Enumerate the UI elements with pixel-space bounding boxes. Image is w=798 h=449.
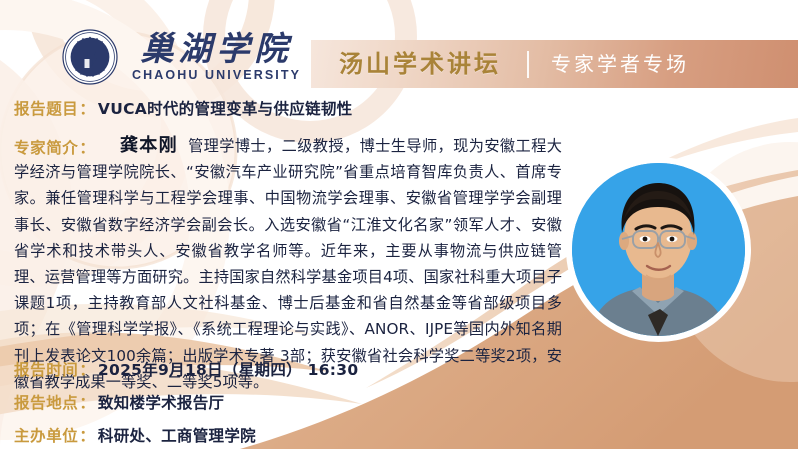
speaker-name: 龚本刚 (120, 135, 178, 156)
report-place-value: 致知楼学术报告厅 (98, 391, 224, 413)
report-place-label: 报告地点 (14, 391, 78, 413)
logo-name-cn: 巢湖学院 (141, 32, 293, 67)
speaker-portrait (572, 163, 745, 336)
speaker-bio-label: 专家简介 (14, 136, 78, 158)
speaker-bio-label-row: 专家简介 ： (14, 136, 98, 158)
report-time-colon: ： (78, 358, 98, 380)
report-host-label: 主办单位 (14, 424, 78, 446)
speaker-bio-paragraph: 龚本刚 管理学博士，二级教授，博士生导师，现为安徽工程大学经济与管理学院院长、“… (14, 133, 562, 395)
report-title-row: 报告题目 ： VUCA时代的管理变革与供应链韧性 (14, 97, 352, 119)
report-time-label: 报告时间 (14, 358, 78, 380)
logo-wordmark: 巢湖学院 CHAOHU UNIVERSITY (132, 32, 301, 82)
report-host-value: 科研处、工商管理学院 (98, 424, 256, 446)
speaker-bio-text: 管理学博士，二级教授，博士生导师，现为安徽工程大学经济与管理学院院长、“安徽汽车… (14, 137, 562, 391)
report-title-label: 报告题目 (14, 97, 78, 119)
speaker-bio-colon: ： (78, 136, 98, 158)
report-time-value: 2025年9月18日（星期四） 16:30 (98, 358, 359, 380)
chaohu-university-seal-icon (62, 29, 118, 85)
header-divider (527, 51, 529, 78)
report-time-row: 报告时间 ： 2025年9月18日（星期四） 16:30 (14, 358, 358, 380)
report-place-row: 报告地点 ： 致知楼学术报告厅 (14, 391, 224, 413)
poster-canvas: 汤山学术讲坛 专家学者专场 (0, 0, 798, 449)
report-place-colon: ： (78, 391, 98, 413)
header-title: 汤山学术讲坛 (339, 52, 501, 76)
report-host-row: 主办单位 ： 科研处、工商管理学院 (14, 424, 256, 446)
report-title-value: VUCA时代的管理变革与供应链韧性 (98, 97, 353, 119)
report-host-colon: ： (78, 424, 98, 446)
header-subtitle: 专家学者专场 (551, 54, 689, 74)
logo-name-en: CHAOHU UNIVERSITY (132, 68, 301, 82)
report-title-colon: ： (78, 97, 98, 119)
university-logo: 巢湖学院 CHAOHU UNIVERSITY (62, 29, 301, 85)
header-band: 汤山学术讲坛 专家学者专场 (311, 40, 798, 88)
